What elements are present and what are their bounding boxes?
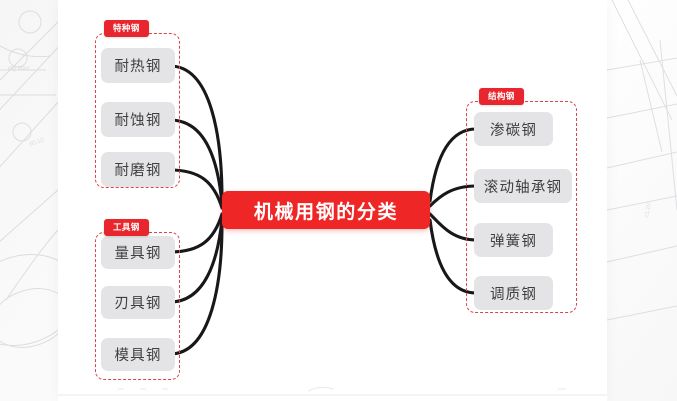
svg-text:21.20: 21.20 <box>644 202 653 218</box>
node-structural-3[interactable]: 弹簧钢 <box>474 223 553 257</box>
node-structural-4[interactable]: 调质钢 <box>474 276 553 310</box>
node-special-3[interactable]: 耐磨钢 <box>101 152 175 187</box>
group-badge-tool-steel: 工具钢 <box>104 219 149 236</box>
mindmap-canvas: ing floor 60.10 21.20 <box>0 0 677 401</box>
center-node[interactable]: 机械用钢的分类 <box>222 191 430 229</box>
node-tool-3[interactable]: 模具钢 <box>101 338 175 371</box>
node-special-2[interactable]: 耐蚀钢 <box>101 102 175 137</box>
node-tool-1[interactable]: 量具钢 <box>101 236 175 269</box>
node-structural-1[interactable]: 渗碳钢 <box>474 112 553 146</box>
node-tool-2[interactable]: 刃具钢 <box>101 286 175 319</box>
group-badge-structural-steel: 结构钢 <box>479 88 524 105</box>
group-badge-special-steel: 特种钢 <box>104 20 149 37</box>
svg-text:60.10: 60.10 <box>29 137 46 148</box>
svg-text:ing floor: ing floor <box>8 66 29 72</box>
node-structural-2[interactable]: 滚动轴承钢 <box>474 169 572 203</box>
node-special-1[interactable]: 耐热钢 <box>101 48 175 83</box>
